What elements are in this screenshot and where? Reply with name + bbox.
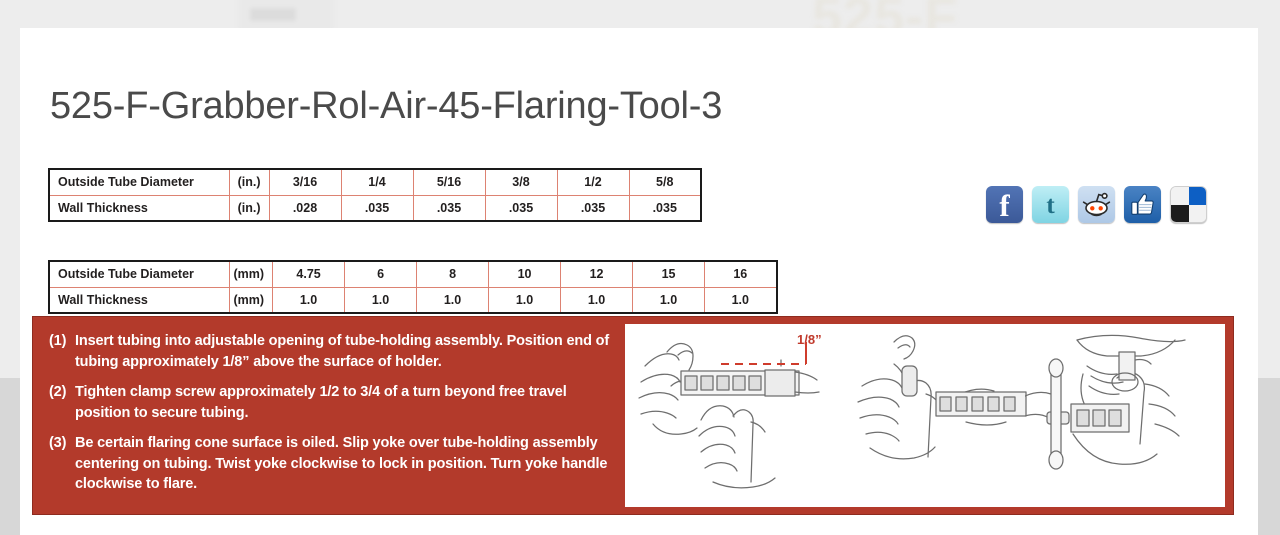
instruction-step: (2) Tighten clamp screw approximately 1/… <box>49 382 611 423</box>
step-number: (3) <box>49 433 75 495</box>
content-card: 525-F-Grabber-Rol-Air-45-Flaring-Tool-3 … <box>20 28 1258 535</box>
table-cell: 1.0 <box>273 287 345 313</box>
row-label: Wall Thickness <box>49 287 229 313</box>
illustration-step-2 <box>840 324 1035 507</box>
table-row: Wall Thickness (mm) 1.0 1.0 1.0 1.0 1.0 … <box>49 287 777 313</box>
stumbleupon-icon[interactable] <box>1124 186 1161 223</box>
table-cell: 3/8 <box>485 169 557 195</box>
table-cell: 1/2 <box>557 169 629 195</box>
thumbs-up-glyph <box>1124 186 1161 223</box>
table-cell: 6 <box>345 261 417 287</box>
delicious-quadrant-br <box>1189 205 1207 223</box>
table-cell: 5/16 <box>413 169 485 195</box>
instructions-text-column: (1) Insert tubing into adjustable openin… <box>33 317 625 514</box>
delicious-quadrant-bl <box>1171 205 1189 223</box>
table-row: Wall Thickness (in.) .028 .035 .035 .035… <box>49 195 701 221</box>
table-cell: 5/8 <box>629 169 701 195</box>
delicious-quadrant-tl <box>1171 187 1189 205</box>
table-cell: .035 <box>485 195 557 221</box>
table-cell: 3/16 <box>269 169 341 195</box>
illustration-step-3 <box>1025 324 1225 507</box>
page-title: 525-F-Grabber-Rol-Air-45-Flaring-Tool-3 <box>50 85 722 128</box>
row-label: Outside Tube Diameter <box>49 261 229 287</box>
table-cell: .035 <box>341 195 413 221</box>
illustration-step-1 <box>631 324 846 507</box>
step-text: Be certain flaring cone surface is oiled… <box>75 433 611 495</box>
facebook-icon[interactable]: f <box>986 186 1023 223</box>
social-share-bar: f t <box>986 186 1207 223</box>
delicious-icon[interactable] <box>1170 186 1207 223</box>
step-text: Insert tubing into adjustable opening of… <box>75 331 611 372</box>
instruction-step: (1) Insert tubing into adjustable openin… <box>49 331 611 372</box>
delicious-quadrant-tr <box>1189 187 1207 205</box>
table-cell: 10 <box>489 261 561 287</box>
table-cell: 1.0 <box>417 287 489 313</box>
facebook-glyph: f <box>986 187 1023 223</box>
twitter-glyph: t <box>1032 186 1069 223</box>
row-label: Outside Tube Diameter <box>49 169 229 195</box>
table-cell: 4.75 <box>273 261 345 287</box>
twitter-icon[interactable]: t <box>1032 186 1069 223</box>
spec-table-millimeters: Outside Tube Diameter (mm) 4.75 6 8 10 1… <box>48 260 778 314</box>
instructions-panel: (1) Insert tubing into adjustable openin… <box>32 316 1234 515</box>
table-cell: 8 <box>417 261 489 287</box>
row-unit: (in.) <box>229 169 269 195</box>
step-text: Tighten clamp screw approximately 1/2 to… <box>75 382 611 423</box>
step-number: (2) <box>49 382 75 423</box>
table-cell: 1.0 <box>489 287 561 313</box>
step-number: (1) <box>49 331 75 372</box>
table-cell: .028 <box>269 195 341 221</box>
row-unit: (mm) <box>229 287 273 313</box>
table-cell: 1.0 <box>633 287 705 313</box>
table-cell: 16 <box>705 261 777 287</box>
reddit-icon[interactable] <box>1078 186 1115 223</box>
instruction-illustrations: 1/8” <box>625 324 1225 507</box>
table-cell: 1/4 <box>341 169 413 195</box>
table-row: Outside Tube Diameter (mm) 4.75 6 8 10 1… <box>49 261 777 287</box>
reddit-alien-glyph <box>1078 186 1115 223</box>
instruction-step: (3) Be certain flaring cone surface is o… <box>49 433 611 495</box>
table-cell: 15 <box>633 261 705 287</box>
table-cell: 12 <box>561 261 633 287</box>
table-cell: .035 <box>629 195 701 221</box>
row-label: Wall Thickness <box>49 195 229 221</box>
spec-table-inches: Outside Tube Diameter (in.) 3/16 1/4 5/1… <box>48 168 702 222</box>
row-unit: (mm) <box>229 261 273 287</box>
table-row: Outside Tube Diameter (in.) 3/16 1/4 5/1… <box>49 169 701 195</box>
table-cell: .035 <box>413 195 485 221</box>
table-cell: 1.0 <box>561 287 633 313</box>
table-cell: .035 <box>557 195 629 221</box>
table-cell: 1.0 <box>345 287 417 313</box>
row-unit: (in.) <box>229 195 269 221</box>
table-cell: 1.0 <box>705 287 777 313</box>
